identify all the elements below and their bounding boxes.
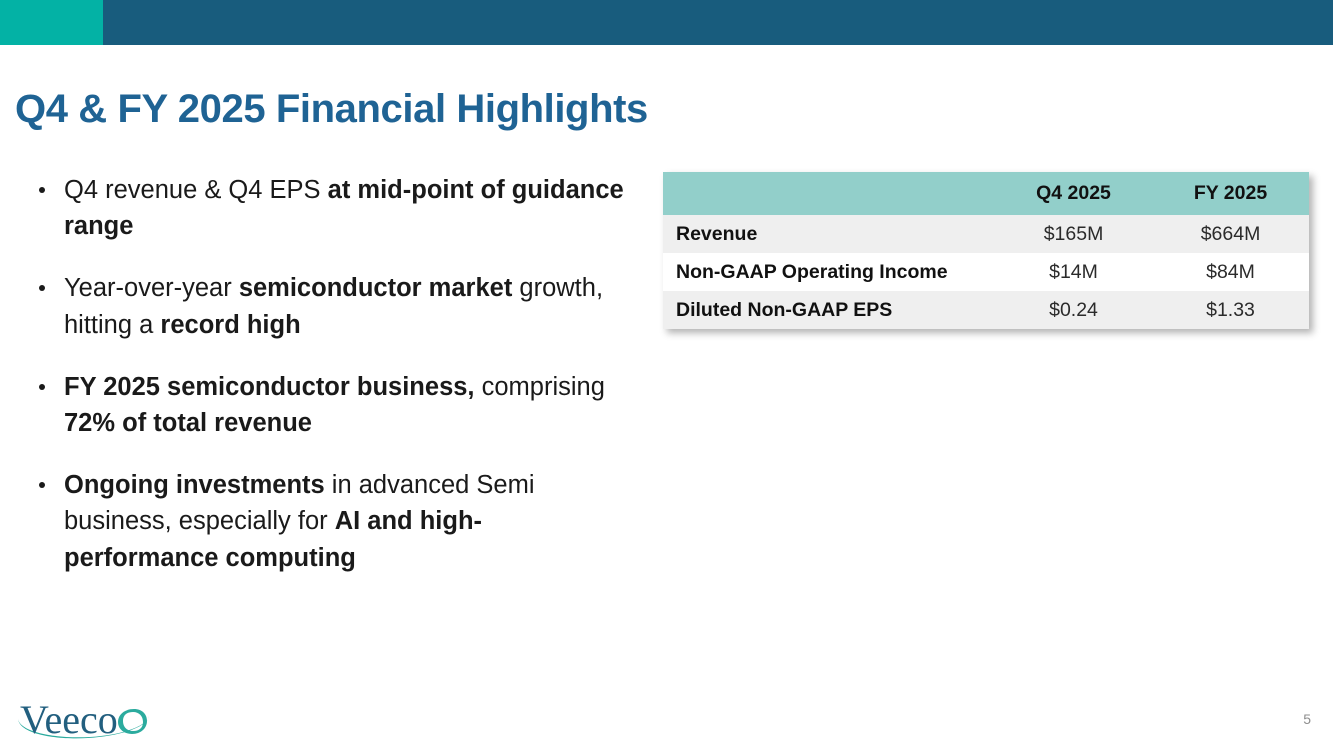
column-header-fy: FY 2025 [1152, 172, 1309, 215]
list-item-text: FY 2025 semiconductor business, comprisi… [64, 373, 605, 437]
financial-metrics-table: Q4 2025 FY 2025 Revenue $165M $664M Non-… [663, 172, 1309, 329]
page-title: Q4 & FY 2025 Financial Highlights [15, 87, 648, 132]
list-item: Year-over-year semiconductor market grow… [34, 270, 634, 342]
top-bar-teal-segment [0, 0, 103, 45]
list-item-text: Ongoing investments in advanced Semi bus… [64, 471, 535, 571]
row-value-fy: $664M [1152, 215, 1309, 253]
table-header: Q4 2025 FY 2025 [663, 172, 1309, 215]
table-body: Revenue $165M $664M Non-GAAP Operating I… [663, 215, 1309, 329]
table-header-row: Q4 2025 FY 2025 [663, 172, 1309, 215]
table-row: Diluted Non-GAAP EPS $0.24 $1.33 [663, 291, 1309, 329]
list-item-text: Q4 revenue & Q4 EPS at mid-point of guid… [64, 176, 624, 240]
bullet-marker-icon [39, 187, 45, 193]
top-bar-blue-segment [103, 0, 1333, 45]
row-value-q4: $165M [995, 215, 1152, 253]
bullet-marker-icon [39, 384, 45, 390]
row-value-q4: $0.24 [995, 291, 1152, 329]
column-header-metric [663, 172, 995, 215]
top-accent-bar [0, 0, 1333, 45]
row-value-q4: $14M [995, 253, 1152, 291]
row-label: Non-GAAP Operating Income [663, 253, 995, 291]
column-header-q4: Q4 2025 [995, 172, 1152, 215]
list-item-text: Year-over-year semiconductor market grow… [64, 274, 603, 338]
list-item: Ongoing investments in advanced Semi bus… [34, 467, 634, 576]
bullet-marker-icon [39, 482, 45, 488]
page-number: 5 [1303, 711, 1311, 727]
list-item: Q4 revenue & Q4 EPS at mid-point of guid… [34, 172, 634, 244]
logo-wordmark: Veeco [20, 697, 118, 742]
veeco-logo-icon: Veeco [8, 691, 156, 743]
row-label: Revenue [663, 215, 995, 253]
row-value-fy: $1.33 [1152, 291, 1309, 329]
table-row: Non-GAAP Operating Income $14M $84M [663, 253, 1309, 291]
logo-swoosh-ring-icon [118, 709, 147, 734]
row-label: Diluted Non-GAAP EPS [663, 291, 995, 329]
table-row: Revenue $165M $664M [663, 215, 1309, 253]
list-item: FY 2025 semiconductor business, comprisi… [34, 369, 634, 441]
highlights-bullet-list: Q4 revenue & Q4 EPS at mid-point of guid… [34, 172, 634, 576]
bullet-marker-icon [39, 285, 45, 291]
row-value-fy: $84M [1152, 253, 1309, 291]
